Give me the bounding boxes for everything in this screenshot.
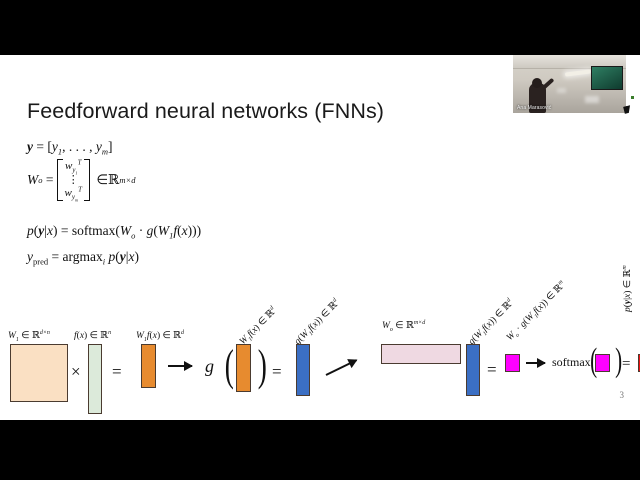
fx-vector-node bbox=[88, 344, 102, 414]
operator-softmax: softmax bbox=[552, 355, 591, 370]
page-number: 3 bbox=[620, 390, 625, 400]
arrow-to-output-layer bbox=[326, 359, 357, 376]
w1-matrix-node bbox=[10, 344, 68, 402]
wogw-vector-node bbox=[505, 354, 520, 372]
wo-matrix-brackets: wy1T ⋮ wymT bbox=[57, 159, 90, 201]
webcam-glare-1 bbox=[585, 96, 599, 103]
webcam-wall-display bbox=[591, 66, 623, 90]
equation-wo-definition: Wo = wy1T ⋮ wymT ∈ ℝm×d bbox=[27, 159, 135, 201]
video-frame: Feedforward neural networks (FNNs) y = [… bbox=[0, 0, 640, 480]
w1fx-vector-node bbox=[141, 344, 156, 388]
operator-times: × bbox=[71, 362, 81, 382]
recording-indicator bbox=[631, 96, 634, 99]
equation-prediction: ypred = argmaxi p(y|x) bbox=[27, 249, 139, 265]
presenter-name-label: Ana Marasović bbox=[517, 105, 551, 111]
operator-g: g bbox=[205, 356, 214, 377]
label-wogw-rotated: Wo · g(W1f(x)) ∈ ℝm bbox=[504, 279, 568, 343]
webcam-glare-2 bbox=[557, 88, 566, 93]
paren-open: ( bbox=[225, 340, 234, 391]
label-wo: Wo ∈ ℝm×d bbox=[382, 320, 425, 331]
presenter-webcam-overlay[interactable]: Ana Marasović bbox=[513, 55, 626, 113]
gw1fx-vector-node-2 bbox=[466, 344, 480, 396]
operator-equals-1: = bbox=[112, 362, 122, 382]
label-w1fx: W1f(x) ∈ ℝd bbox=[136, 330, 184, 341]
softmax-input-node bbox=[595, 354, 610, 372]
operator-equals-4: = bbox=[622, 356, 630, 373]
equation-p-definition: p(y|x) = softmax(Wo · g(W1f(x))) bbox=[27, 223, 201, 239]
label-gw1fx-rotated: g(W1f(x)) ∈ ℝd bbox=[292, 297, 342, 347]
fnn-pipeline-diagram: W1 ∈ ℝd×n f(x) ∈ ℝn W1f(x) ∈ ℝd W1f(x) ∈… bbox=[0, 270, 640, 420]
paren-close: ) bbox=[258, 340, 267, 391]
label-pyx-rotated: p(y|x) ∈ ℝm bbox=[622, 265, 633, 312]
operator-equals-2: = bbox=[272, 362, 282, 382]
arrow-to-softmax bbox=[526, 362, 545, 364]
wo-matrix-node bbox=[381, 344, 461, 364]
label-fx: f(x) ∈ ℝn bbox=[74, 330, 111, 341]
label-w1: W1 ∈ ℝd×n bbox=[8, 330, 50, 341]
w1fx-vector-node-2 bbox=[236, 344, 251, 392]
gw1fx-vector-node bbox=[296, 344, 310, 396]
operator-equals-3: = bbox=[487, 360, 497, 380]
arrow-to-activation bbox=[168, 365, 192, 367]
equation-y-definition: y = [y1, . . . , ym] bbox=[27, 139, 113, 155]
page-title: Feedforward neural networks (FNNs) bbox=[27, 99, 384, 124]
